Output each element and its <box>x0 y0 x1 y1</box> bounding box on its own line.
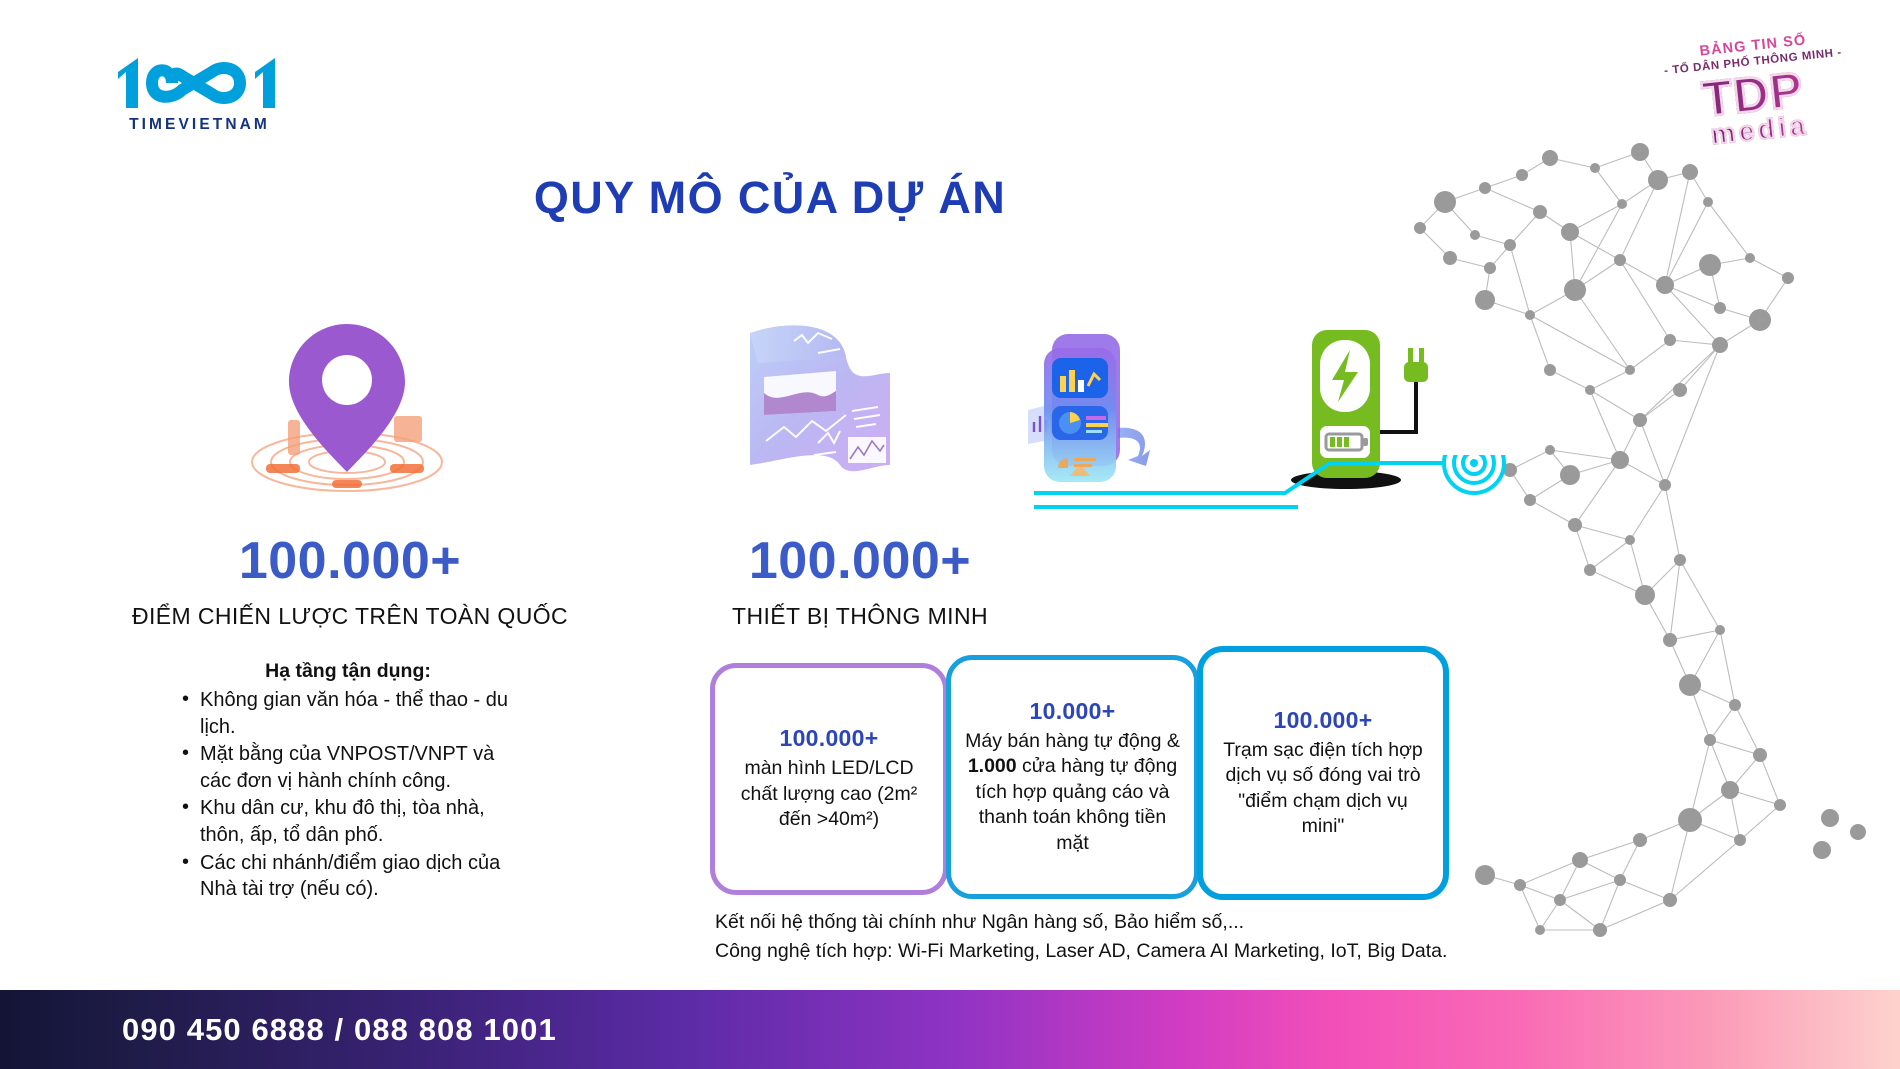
stat-caption: THIẾT BỊ THÔNG MINH <box>700 603 1020 630</box>
footnotes: Kết nối hệ thống tài chính như Ngân hàng… <box>715 908 1447 967</box>
footnote-line: Kết nối hệ thống tài chính như Ngân hàng… <box>715 908 1447 937</box>
list-item: Mặt bằng của VNPOST/VNPT và các đơn vị h… <box>178 741 518 794</box>
list-item: Các chi nhánh/điểm giao dịch của Nhà tài… <box>178 850 518 903</box>
stat-number: 100.000+ <box>700 535 1020 587</box>
radar-beacon-icon <box>1444 455 1504 493</box>
logo-1001-wordmark: TIMEVIETNAM <box>112 116 287 134</box>
infrastructure-list: Hạ tầng tận dụng: Không gian văn hóa - t… <box>178 660 518 904</box>
feature-boxes: 100.000+ màn hình LED/LCD chất lượng cao… <box>710 655 1500 905</box>
list-item: Không gian văn hóa - thể thao - du lịch. <box>178 687 518 740</box>
footnote-line: Công nghệ tích hợp: Wi-Fi Marketing, Las… <box>715 937 1447 966</box>
logo-tdp-media: BẢNG TIN SỐ - TỔ DÂN PHỐ THÔNG MINH - TD… <box>1658 38 1848 144</box>
logo-1001-mark <box>112 52 287 110</box>
feature-box-number: 100.000+ <box>780 725 879 752</box>
feature-box-vending-machines: 10.000+ Máy bán hàng tự động & 1.000 cửa… <box>946 655 1199 899</box>
page-title-text: QUY MÔ CỦA DỰ ÁN <box>534 172 1006 224</box>
logo-1001: TIMEVIETNAM <box>112 52 287 134</box>
stat-strategic-points: 100.000+ ĐIỂM CHIẾN LƯỢC TRÊN TOÀN QUỐC <box>130 535 570 630</box>
stat-caption: ĐIỂM CHIẾN LƯỢC TRÊN TOÀN QUỐC <box>130 603 570 630</box>
feature-box-text-bold: 1.000 <box>968 755 1017 777</box>
infographic-page: TIMEVIETNAM BẢNG TIN SỐ - TỔ DÂN PHỐ THÔ… <box>0 0 1900 1069</box>
footer-bar: 090 450 6888 / 088 808 1001 <box>0 990 1900 1069</box>
curved-led-display-icon <box>722 315 957 490</box>
feature-box-led-screens: 100.000+ màn hình LED/LCD chất lượng cao… <box>710 663 948 895</box>
cyan-connector-line <box>1030 455 1520 545</box>
list-item: Khu dân cư, khu đô thị, tòa nhà, thôn, ấ… <box>178 795 518 848</box>
stat-smart-devices: 100.000+ THIẾT BỊ THÔNG MINH <box>700 535 1020 630</box>
infrastructure-items: Không gian văn hóa - thể thao - du lịch.… <box>178 687 518 903</box>
feature-box-charging-stations: 100.000+ Trạm sạc điện tích hợp dịch vụ … <box>1197 646 1449 900</box>
footer-phone-number: 090 450 6888 / 088 808 1001 <box>122 1012 557 1048</box>
feature-box-text-before: Máy bán hàng tự động & <box>965 730 1180 752</box>
feature-box-number: 10.000+ <box>1030 698 1116 725</box>
feature-box-text: Máy bán hàng tự động & 1.000 cửa hàng tự… <box>965 729 1180 856</box>
feature-box-number: 100.000+ <box>1274 707 1373 734</box>
feature-box-text: Trạm sạc điện tích hợp dịch vụ số đóng v… <box>1217 738 1429 839</box>
stat-number: 100.000+ <box>130 535 570 587</box>
infrastructure-heading: Hạ tầng tận dụng: <box>178 660 518 683</box>
feature-box-text: màn hình LED/LCD chất lượng cao (2m² đến… <box>729 756 929 832</box>
map-pin-icon <box>222 312 472 502</box>
